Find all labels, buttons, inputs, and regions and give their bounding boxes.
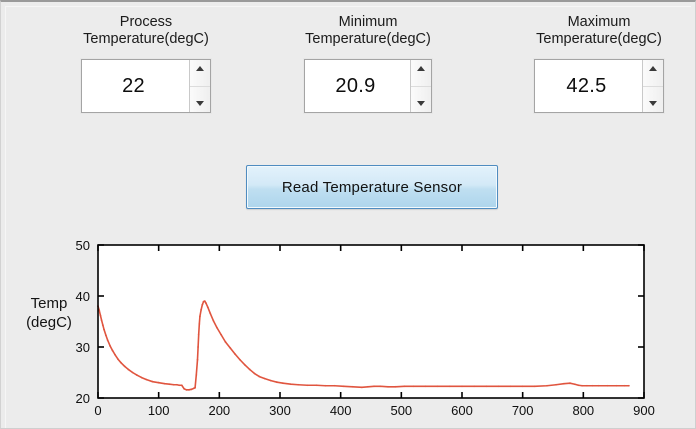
chart-data-point — [102, 324, 104, 326]
chart-data-point — [141, 377, 143, 379]
minimum-temperature-spinner[interactable] — [410, 60, 431, 112]
chart-data-point — [249, 369, 251, 371]
chart-data-point — [234, 353, 236, 355]
chart-data-point — [607, 385, 609, 387]
triangle-down-icon[interactable] — [411, 86, 431, 113]
chart-data-point — [124, 365, 126, 367]
chart-data-point — [188, 389, 190, 391]
triangle-up-icon[interactable] — [190, 60, 210, 86]
chart-y-tick-label: 30 — [76, 340, 90, 355]
chart-data-point — [201, 304, 203, 306]
chart-data-point — [191, 388, 193, 390]
chart-data-point — [628, 385, 630, 387]
chart-data-point — [258, 376, 260, 378]
chart-data-point — [592, 385, 594, 387]
chart-data-point — [343, 385, 345, 387]
chart-data-point — [473, 385, 475, 387]
process-temperature-value[interactable]: 22 — [82, 60, 189, 112]
chart-x-tick-label: 400 — [330, 403, 352, 418]
chart-data-point — [105, 334, 107, 336]
chart-data-point — [136, 374, 138, 376]
chart-data-point — [437, 385, 439, 387]
read-temperature-sensor-button[interactable]: Read Temperature Sensor — [246, 165, 498, 209]
chart-data-point — [173, 384, 175, 386]
chart-data-point — [197, 359, 199, 361]
maximum-temperature-label: Maximum Temperature(degC) — [516, 14, 682, 48]
chart-data-point — [204, 300, 206, 302]
chart-data-point — [209, 312, 211, 314]
chart-data-point — [198, 333, 200, 335]
minimum-temperature-value[interactable]: 20.9 — [305, 60, 410, 112]
chart-data-point — [373, 385, 375, 387]
chart-data-point — [239, 359, 241, 361]
triangle-up-icon[interactable] — [643, 60, 663, 86]
process-temperature-label: Process Temperature(degC) — [63, 14, 229, 48]
chart-data-point — [425, 385, 427, 387]
chart-data-point — [282, 382, 284, 384]
chart-data-point — [361, 386, 363, 388]
triangle-down-icon[interactable] — [643, 86, 663, 113]
chart-data-point — [195, 374, 197, 376]
chart-data-point — [194, 387, 196, 389]
chart-data-point — [510, 385, 512, 387]
chart-data-point — [449, 385, 451, 387]
chart-data-point — [534, 385, 536, 387]
chart-data-point — [334, 385, 336, 387]
chart-data-point — [555, 384, 557, 386]
chart-data-point — [244, 364, 246, 366]
chart-data-point — [107, 339, 109, 341]
chart-x-tick-label: 100 — [148, 403, 170, 418]
chart-data-point — [199, 316, 201, 318]
triangle-down-icon[interactable] — [190, 86, 210, 113]
chart-data-point — [325, 385, 327, 387]
chart-data-point — [616, 385, 618, 387]
chart-data-point — [207, 306, 209, 308]
chart-data-point — [498, 385, 500, 387]
chart-data-point — [158, 382, 160, 384]
chart-data-point — [624, 385, 626, 387]
chart-data-point — [367, 386, 369, 388]
chart-x-tick-label: 500 — [390, 403, 412, 418]
temperature-chart-svg: 010020030040050060070080090020304050 — [1, 230, 696, 429]
chart-y-tick-label: 20 — [76, 391, 90, 406]
chart-data-point — [264, 378, 266, 380]
chart-data-point — [387, 386, 389, 388]
chart-data-point — [306, 384, 308, 386]
chart-data-point — [413, 385, 415, 387]
temperature-chart: 010020030040050060070080090020304050 — [1, 230, 696, 429]
chart-data-point — [197, 346, 199, 348]
chart-data-point — [132, 372, 134, 374]
chart-data-point — [205, 302, 207, 304]
field-group-process-temperature: Process Temperature(degC) 22 — [63, 14, 229, 113]
chart-x-tick-label: 800 — [572, 403, 594, 418]
chart-data-point — [169, 383, 171, 385]
chart-data-point — [229, 347, 231, 349]
chart-data-point — [100, 314, 102, 316]
maximum-temperature-spinner[interactable] — [642, 60, 663, 112]
chart-data-point — [569, 382, 571, 384]
chart-x-tick-label: 900 — [633, 403, 655, 418]
chart-plot-area — [98, 245, 644, 398]
chart-data-point — [461, 385, 463, 387]
chart-data-point — [178, 384, 180, 386]
chart-x-tick-label: 300 — [269, 403, 291, 418]
chart-data-point — [485, 385, 487, 387]
chart-data-point — [220, 334, 222, 336]
chart-data-point — [101, 320, 103, 322]
process-temperature-spinner[interactable] — [189, 60, 210, 112]
chart-data-point — [212, 320, 214, 322]
chart-data-point — [114, 354, 116, 356]
chart-data-point — [297, 384, 299, 386]
chart-data-point — [176, 384, 178, 386]
triangle-up-icon[interactable] — [411, 60, 431, 86]
chart-data-point — [120, 362, 122, 364]
chart-y-tick-label: 40 — [76, 289, 90, 304]
maximum-temperature-value[interactable]: 42.5 — [535, 60, 642, 112]
chart-data-point — [586, 385, 588, 387]
process-temperature-input[interactable]: 22 — [81, 59, 211, 113]
chart-data-point — [403, 385, 405, 387]
chart-data-point — [216, 327, 218, 329]
chart-data-point — [290, 383, 292, 385]
temperature-sensor-panel: Process Temperature(degC) 22 Minimum Tem… — [0, 0, 696, 429]
chart-data-point — [394, 386, 396, 388]
chart-x-tick-label: 200 — [208, 403, 230, 418]
chart-x-tick-label: 0 — [94, 403, 101, 418]
chart-data-point — [164, 383, 166, 385]
chart-data-point — [186, 389, 188, 391]
chart-data-point — [522, 385, 524, 387]
chart-data-point — [578, 384, 580, 386]
chart-data-point — [352, 386, 354, 388]
chart-data-point — [109, 345, 111, 347]
minimum-temperature-label: Minimum Temperature(degC) — [285, 14, 451, 48]
chart-x-tick-label: 700 — [512, 403, 534, 418]
chart-data-point — [146, 379, 148, 381]
chart-data-point — [112, 350, 114, 352]
chart-data-point — [198, 323, 200, 325]
chart-data-point — [574, 383, 576, 385]
maximum-temperature-input[interactable]: 42.5 — [534, 59, 664, 113]
chart-data-point — [598, 385, 600, 387]
chart-data-point — [200, 309, 202, 311]
chart-data-point — [546, 385, 548, 387]
chart-data-point — [152, 381, 154, 383]
chart-data-point — [276, 381, 278, 383]
chart-data-point — [103, 329, 105, 331]
chart-data-point — [563, 383, 565, 385]
chart-y-tick-label: 50 — [76, 238, 90, 253]
minimum-temperature-input[interactable]: 20.9 — [304, 59, 432, 113]
field-group-minimum-temperature: Minimum Temperature(degC) 20.9 — [285, 14, 451, 113]
chart-data-point — [316, 384, 318, 386]
chart-data-point — [581, 385, 583, 387]
chart-data-point — [270, 380, 272, 382]
chart-data-point — [254, 373, 256, 375]
chart-data-point — [183, 388, 185, 390]
chart-data-point — [181, 384, 183, 386]
read-temperature-sensor-button-label: Read Temperature Sensor — [282, 179, 462, 196]
field-group-maximum-temperature: Maximum Temperature(degC) 42.5 — [516, 14, 682, 113]
chart-data-point — [379, 385, 381, 387]
chart-x-tick-label: 600 — [451, 403, 473, 418]
chart-data-point — [225, 341, 227, 343]
chart-data-point — [117, 358, 119, 360]
chart-data-point — [127, 369, 129, 371]
